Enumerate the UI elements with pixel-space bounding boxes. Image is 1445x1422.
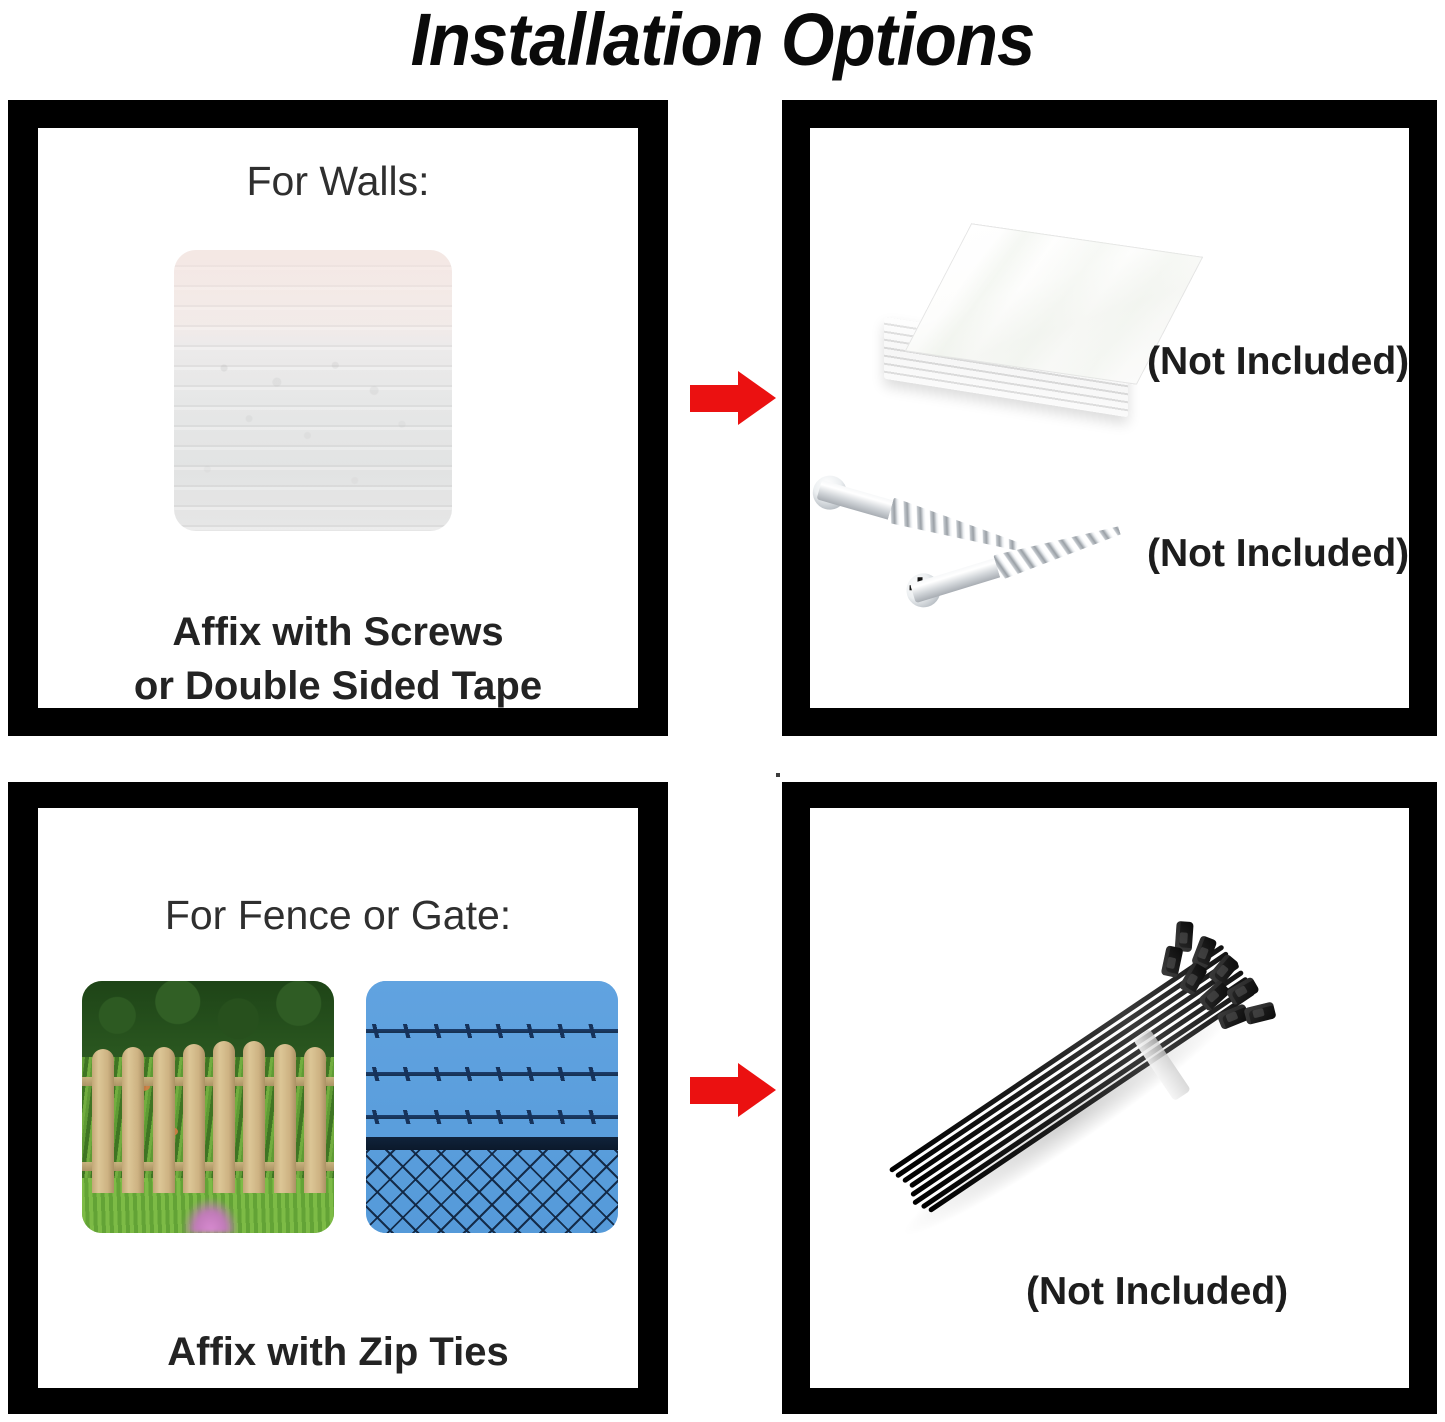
screw-shank xyxy=(910,556,1008,603)
for-fence-heading: For Fence or Gate: xyxy=(38,892,638,939)
fence-picket xyxy=(274,1044,296,1193)
zip-tie-bundle-image xyxy=(840,900,1340,1300)
fence-picket xyxy=(243,1041,265,1192)
stray-speck xyxy=(776,773,780,777)
arrow-shaft xyxy=(690,385,742,412)
picket-fence-photo xyxy=(82,981,334,1233)
screws-not-included-label: (Not Included) xyxy=(1147,532,1409,576)
fence-picket xyxy=(183,1044,205,1193)
fence-picket xyxy=(304,1047,326,1193)
panel-zip-tie-content: (Not Included) xyxy=(810,808,1409,1388)
zip-tie-strands xyxy=(888,939,1261,1219)
chain-link-fence-photo xyxy=(366,981,618,1233)
arrow-head xyxy=(738,1063,776,1117)
chain-link-top-rail xyxy=(366,1137,618,1150)
panel-for-walls-content: For Walls: Affix with Screws or Double S… xyxy=(38,128,638,708)
panel-for-walls: For Walls: Affix with Screws or Double S… xyxy=(8,100,668,736)
fence-picket xyxy=(153,1047,175,1193)
fence-picket xyxy=(213,1041,235,1192)
arrow-head xyxy=(738,371,776,425)
panel-zip-tie-hardware: (Not Included) xyxy=(782,782,1437,1414)
for-walls-heading: For Walls: xyxy=(38,158,638,205)
hedge-background xyxy=(82,981,334,1067)
fence-picket xyxy=(122,1047,144,1193)
chain-link-mesh xyxy=(366,1150,618,1233)
page-title: Installation Options xyxy=(51,0,1395,82)
fence-rail-upper xyxy=(82,1077,334,1086)
fence-caption: Affix with Zip Ties xyxy=(38,1330,638,1375)
walls-caption-line-2: or Double Sided Tape xyxy=(38,664,638,708)
fence-rail-lower xyxy=(82,1162,334,1171)
fence-picket xyxy=(92,1049,114,1193)
white-brick-wall-image xyxy=(174,250,452,531)
panel-wall-hardware-content: (Not Included) (Not Included) xyxy=(810,128,1409,708)
barbed-wire-strand xyxy=(366,1029,618,1033)
double-sided-tape-stack-image xyxy=(876,240,1144,426)
red-right-arrow-icon-walls xyxy=(690,371,776,426)
screw-threads xyxy=(887,498,1021,559)
tape-not-included-label: (Not Included) xyxy=(1147,340,1409,384)
screw-shank xyxy=(816,480,900,522)
barbed-wire-strand xyxy=(366,1115,618,1119)
panel-for-fence-or-gate: For Fence or Gate: xyxy=(8,782,668,1414)
arrow-shaft xyxy=(690,1077,742,1104)
zip-ties-not-included-label: (Not Included) xyxy=(1026,1270,1288,1314)
red-right-arrow-icon-fence xyxy=(690,1063,776,1118)
walls-caption-line-1: Affix with Screws xyxy=(38,610,638,655)
brick-warm-highlight xyxy=(174,250,452,346)
garden-path xyxy=(183,1198,238,1233)
panel-for-fence-content: For Fence or Gate: xyxy=(38,808,638,1388)
barbed-wire-strand xyxy=(366,1072,618,1076)
panel-wall-hardware: (Not Included) (Not Included) xyxy=(782,100,1437,736)
